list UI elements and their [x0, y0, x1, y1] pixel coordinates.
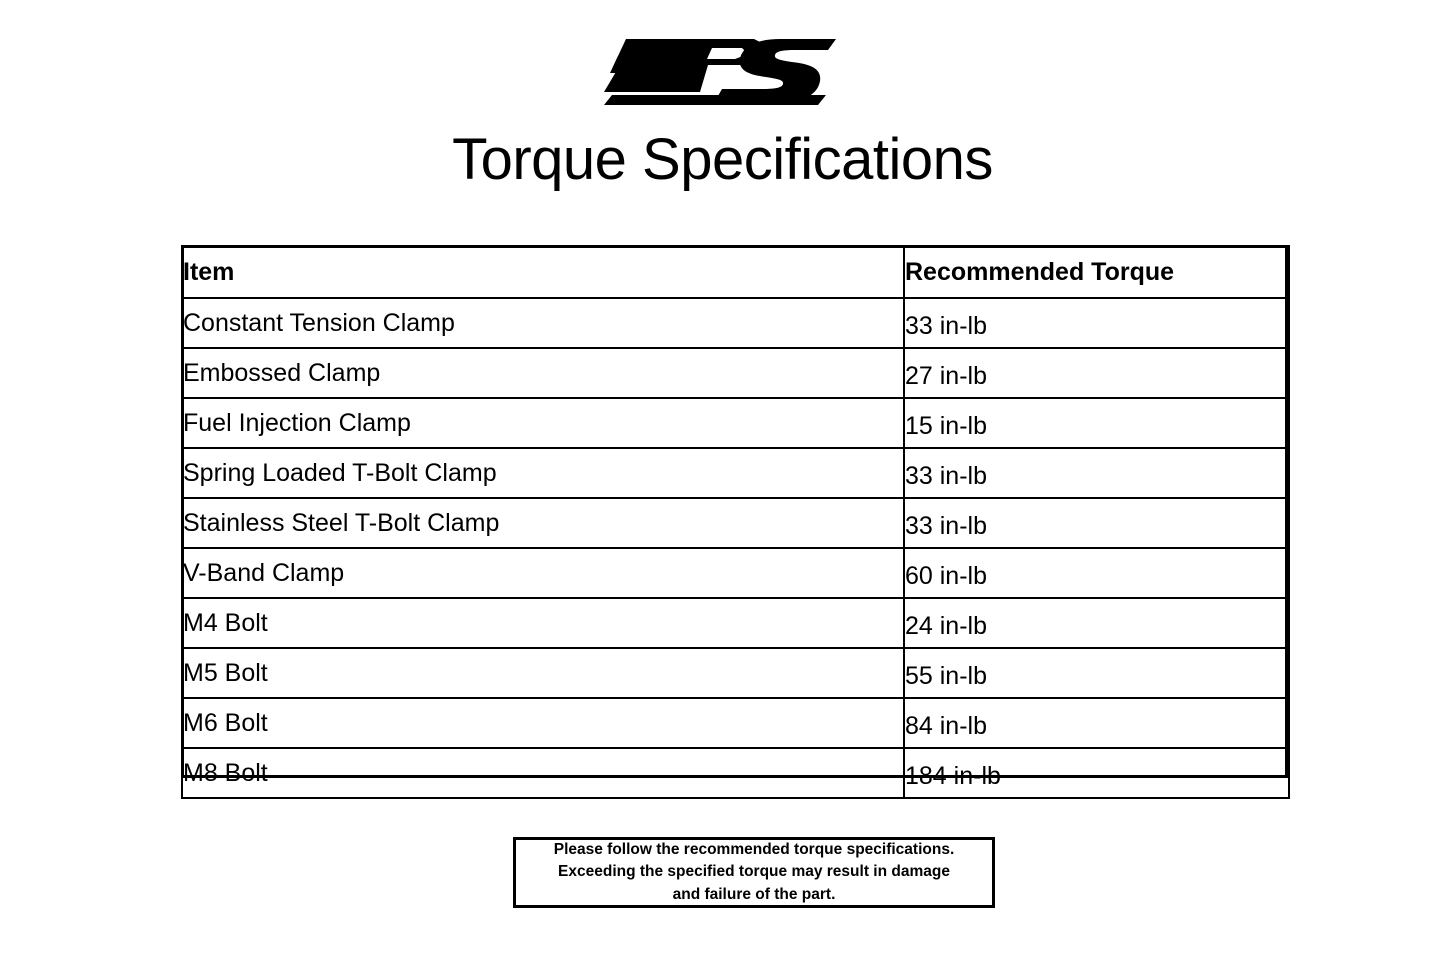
table-row: Stainless Steel T-Bolt Clamp33 in-lb	[182, 498, 1289, 548]
table-row: Constant Tension Clamp33 in-lb	[182, 298, 1289, 348]
footnote-line-2: Exceeding the specified torque may resul…	[558, 861, 950, 883]
hps-logo	[0, 30, 1445, 110]
cell-recommended-torque: 60 in-lb	[904, 551, 1289, 601]
table-row: V-Band Clamp60 in-lb	[182, 548, 1289, 598]
table-row: Spring Loaded T-Bolt Clamp33 in-lb	[182, 448, 1289, 498]
cell-item: Embossed Clamp	[182, 348, 904, 398]
cell-recommended-torque: 27 in-lb	[904, 351, 1289, 401]
cell-recommended-torque: 55 in-lb	[904, 651, 1289, 701]
table-row: M4 Bolt24 in-lb	[182, 598, 1289, 648]
torque-specifications-table: Item Recommended Torque Constant Tension…	[181, 245, 1290, 799]
cell-recommended-torque: 33 in-lb	[904, 301, 1289, 351]
cell-item: Stainless Steel T-Bolt Clamp	[182, 498, 904, 548]
footnote-warning-box: Please follow the recommended torque spe…	[513, 837, 995, 908]
cell-item: M4 Bolt	[182, 598, 904, 648]
cell-recommended-torque: 15 in-lb	[904, 401, 1289, 451]
cell-recommended-torque: 33 in-lb	[904, 501, 1289, 551]
cell-item: Spring Loaded T-Bolt Clamp	[182, 448, 904, 498]
cell-item: M8 Bolt	[182, 748, 904, 798]
page-title: Torque Specifications	[0, 128, 1445, 192]
table-row: M6 Bolt84 in-lb	[182, 698, 1289, 748]
column-header-item: Item	[182, 246, 904, 298]
hps-logo-icon	[604, 35, 842, 105]
cell-recommended-torque: 33 in-lb	[904, 451, 1289, 501]
cell-item: Fuel Injection Clamp	[182, 398, 904, 448]
cell-item: Constant Tension Clamp	[182, 298, 904, 348]
cell-recommended-torque: 24 in-lb	[904, 601, 1289, 651]
table-row: Embossed Clamp27 in-lb	[182, 348, 1289, 398]
cell-item: V-Band Clamp	[182, 548, 904, 598]
cell-recommended-torque: 184 in-lb	[904, 751, 1289, 801]
cell-item: M5 Bolt	[182, 648, 904, 698]
column-header-recommended-torque: Recommended Torque	[904, 246, 1289, 298]
footnote-line-3: and failure of the part.	[673, 884, 836, 906]
table-header-row: Item Recommended Torque	[182, 246, 1289, 298]
cell-recommended-torque: 84 in-lb	[904, 701, 1289, 751]
table-row: Fuel Injection Clamp15 in-lb	[182, 398, 1289, 448]
footnote-line-1: Please follow the recommended torque spe…	[554, 839, 955, 861]
cell-item: M6 Bolt	[182, 698, 904, 748]
table-row: M5 Bolt55 in-lb	[182, 648, 1289, 698]
table-row: M8 Bolt184 in-lb	[182, 748, 1289, 798]
